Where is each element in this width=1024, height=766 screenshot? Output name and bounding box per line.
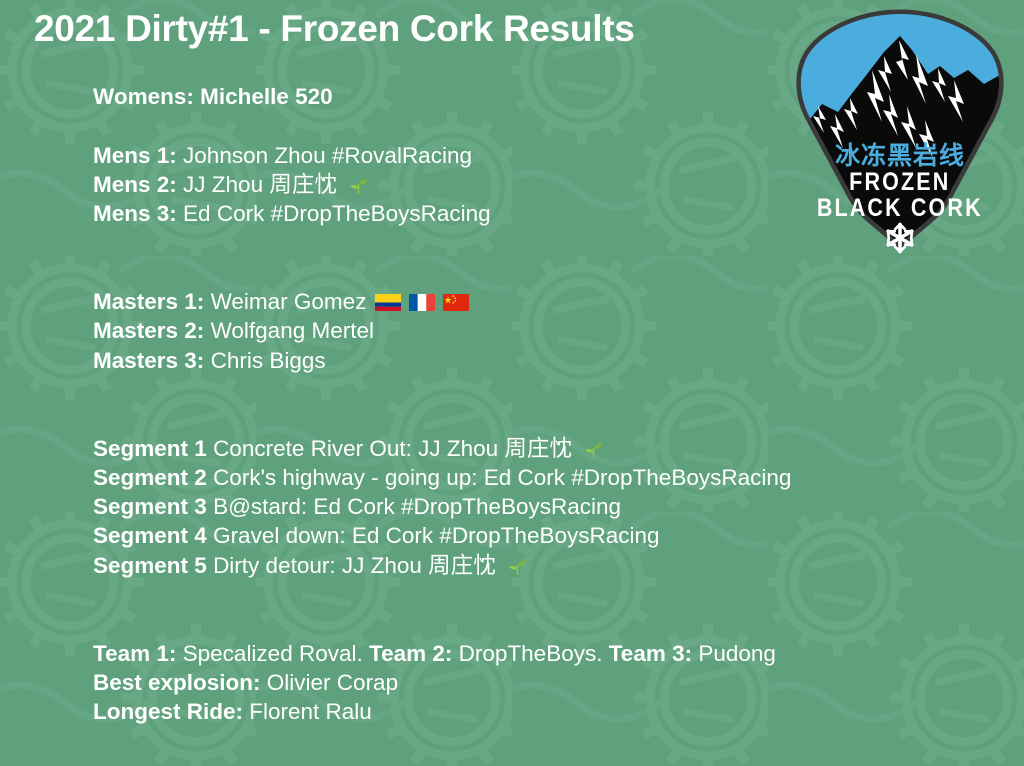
masters-1-label: Masters 1:	[93, 289, 204, 314]
team-2-value: DropTheBoys.	[459, 641, 603, 666]
result-row-segment-2: Segment 2 Cork's highway - going up: Ed …	[93, 463, 973, 492]
mens-3-label: Mens 3:	[93, 201, 177, 226]
segment-2-value: Cork's highway - going up: Ed Cork #Drop…	[213, 465, 791, 490]
segment-3-value: B@stard: Ed Cork #DropTheBoysRacing	[213, 494, 621, 519]
flag-colombia-icon	[375, 289, 401, 306]
frozen-black-cork-logo: 冰冻黑岩线 FROZEN BLACK CORK	[788, 8, 1012, 258]
spacer	[93, 375, 973, 404]
seedling-icon	[582, 437, 606, 457]
segment-3-label: Segment 3	[93, 494, 207, 519]
flag-france-icon	[409, 289, 435, 306]
segment-2-label: Segment 2	[93, 465, 207, 490]
segment-4-value: Gravel down: Ed Cork #DropTheBoysRacing	[213, 523, 659, 548]
result-row-segment-3: Segment 3 B@stard: Ed Cork #DropTheBoysR…	[93, 492, 973, 521]
mens-2-label: Mens 2:	[93, 172, 177, 197]
result-row-masters-2: Masters 2: Wolfgang Mertel	[93, 316, 973, 345]
best-explosion-label: Best explosion:	[93, 670, 261, 695]
spacer	[93, 404, 973, 433]
longest-ride-label: Longest Ride:	[93, 699, 243, 724]
segment-5-value: Dirty detour: JJ Zhou 周庄忱	[213, 553, 496, 578]
page-title: 2021 Dirty#1 - Frozen Cork Results	[34, 8, 635, 50]
longest-ride-value: Florent Ralu	[249, 699, 372, 724]
spacer	[93, 727, 973, 756]
team-3-label: Team 3:	[609, 641, 692, 666]
team-2-label: Team 2:	[369, 641, 452, 666]
team-3-value: Pudong	[698, 641, 776, 666]
spacer	[93, 609, 973, 638]
team-1-value: Specalized Roval.	[183, 641, 363, 666]
logo-line-frozen: FROZEN	[849, 167, 950, 195]
spacer	[93, 756, 973, 766]
mens-2-value: JJ Zhou 周庄忱	[183, 172, 337, 197]
seedling-icon	[347, 173, 371, 193]
flag-china-icon	[443, 289, 469, 306]
logo-line-black-cork: BLACK CORK	[817, 193, 983, 221]
team-1-label: Team 1:	[93, 641, 176, 666]
result-row-segment-5: Segment 5 Dirty detour: JJ Zhou 周庄忱	[93, 551, 973, 580]
masters-3-label: Masters 3:	[93, 348, 204, 373]
segment-5-label: Segment 5	[93, 553, 207, 578]
womens-label: Womens: Michelle 520	[93, 84, 333, 109]
mens-1-label: Mens 1:	[93, 143, 177, 168]
logo-chinese-name: 冰冻黑岩线	[835, 141, 965, 170]
result-row-longest-ride: Longest Ride: Florent Ralu	[93, 697, 973, 726]
masters-3-value: Chris Biggs	[211, 348, 326, 373]
result-row-teams: Team 1: Specalized Roval. Team 2: DropTh…	[93, 639, 973, 668]
masters-2-value: Wolfgang Mertel	[211, 318, 374, 343]
masters-1-value: Weimar Gomez	[211, 289, 367, 314]
spacer	[93, 580, 973, 609]
result-row-masters-3: Masters 3: Chris Biggs	[93, 346, 973, 375]
best-explosion-value: Olivier Corap	[267, 670, 398, 695]
result-row-masters-1: Masters 1: Weimar Gomez	[93, 287, 973, 316]
poster-canvas: 2021 Dirty#1 - Frozen Cork Results Women…	[0, 0, 1024, 766]
spacer	[93, 258, 973, 287]
result-row-segment-4: Segment 4 Gravel down: Ed Cork #DropTheB…	[93, 521, 973, 550]
mens-3-value: Ed Cork #DropTheBoysRacing	[183, 201, 491, 226]
segment-1-label: Segment 1	[93, 436, 207, 461]
mens-1-value: Johnson Zhou #RovalRacing	[183, 143, 472, 168]
result-row-segment-1: Segment 1 Concrete River Out: JJ Zhou 周庄…	[93, 434, 973, 463]
segment-4-label: Segment 4	[93, 523, 207, 548]
seedling-icon	[506, 554, 530, 574]
result-row-best-explosion: Best explosion: Olivier Corap	[93, 668, 973, 697]
masters-2-label: Masters 2:	[93, 318, 204, 343]
segment-1-value: Concrete River Out: JJ Zhou 周庄忱	[213, 436, 572, 461]
